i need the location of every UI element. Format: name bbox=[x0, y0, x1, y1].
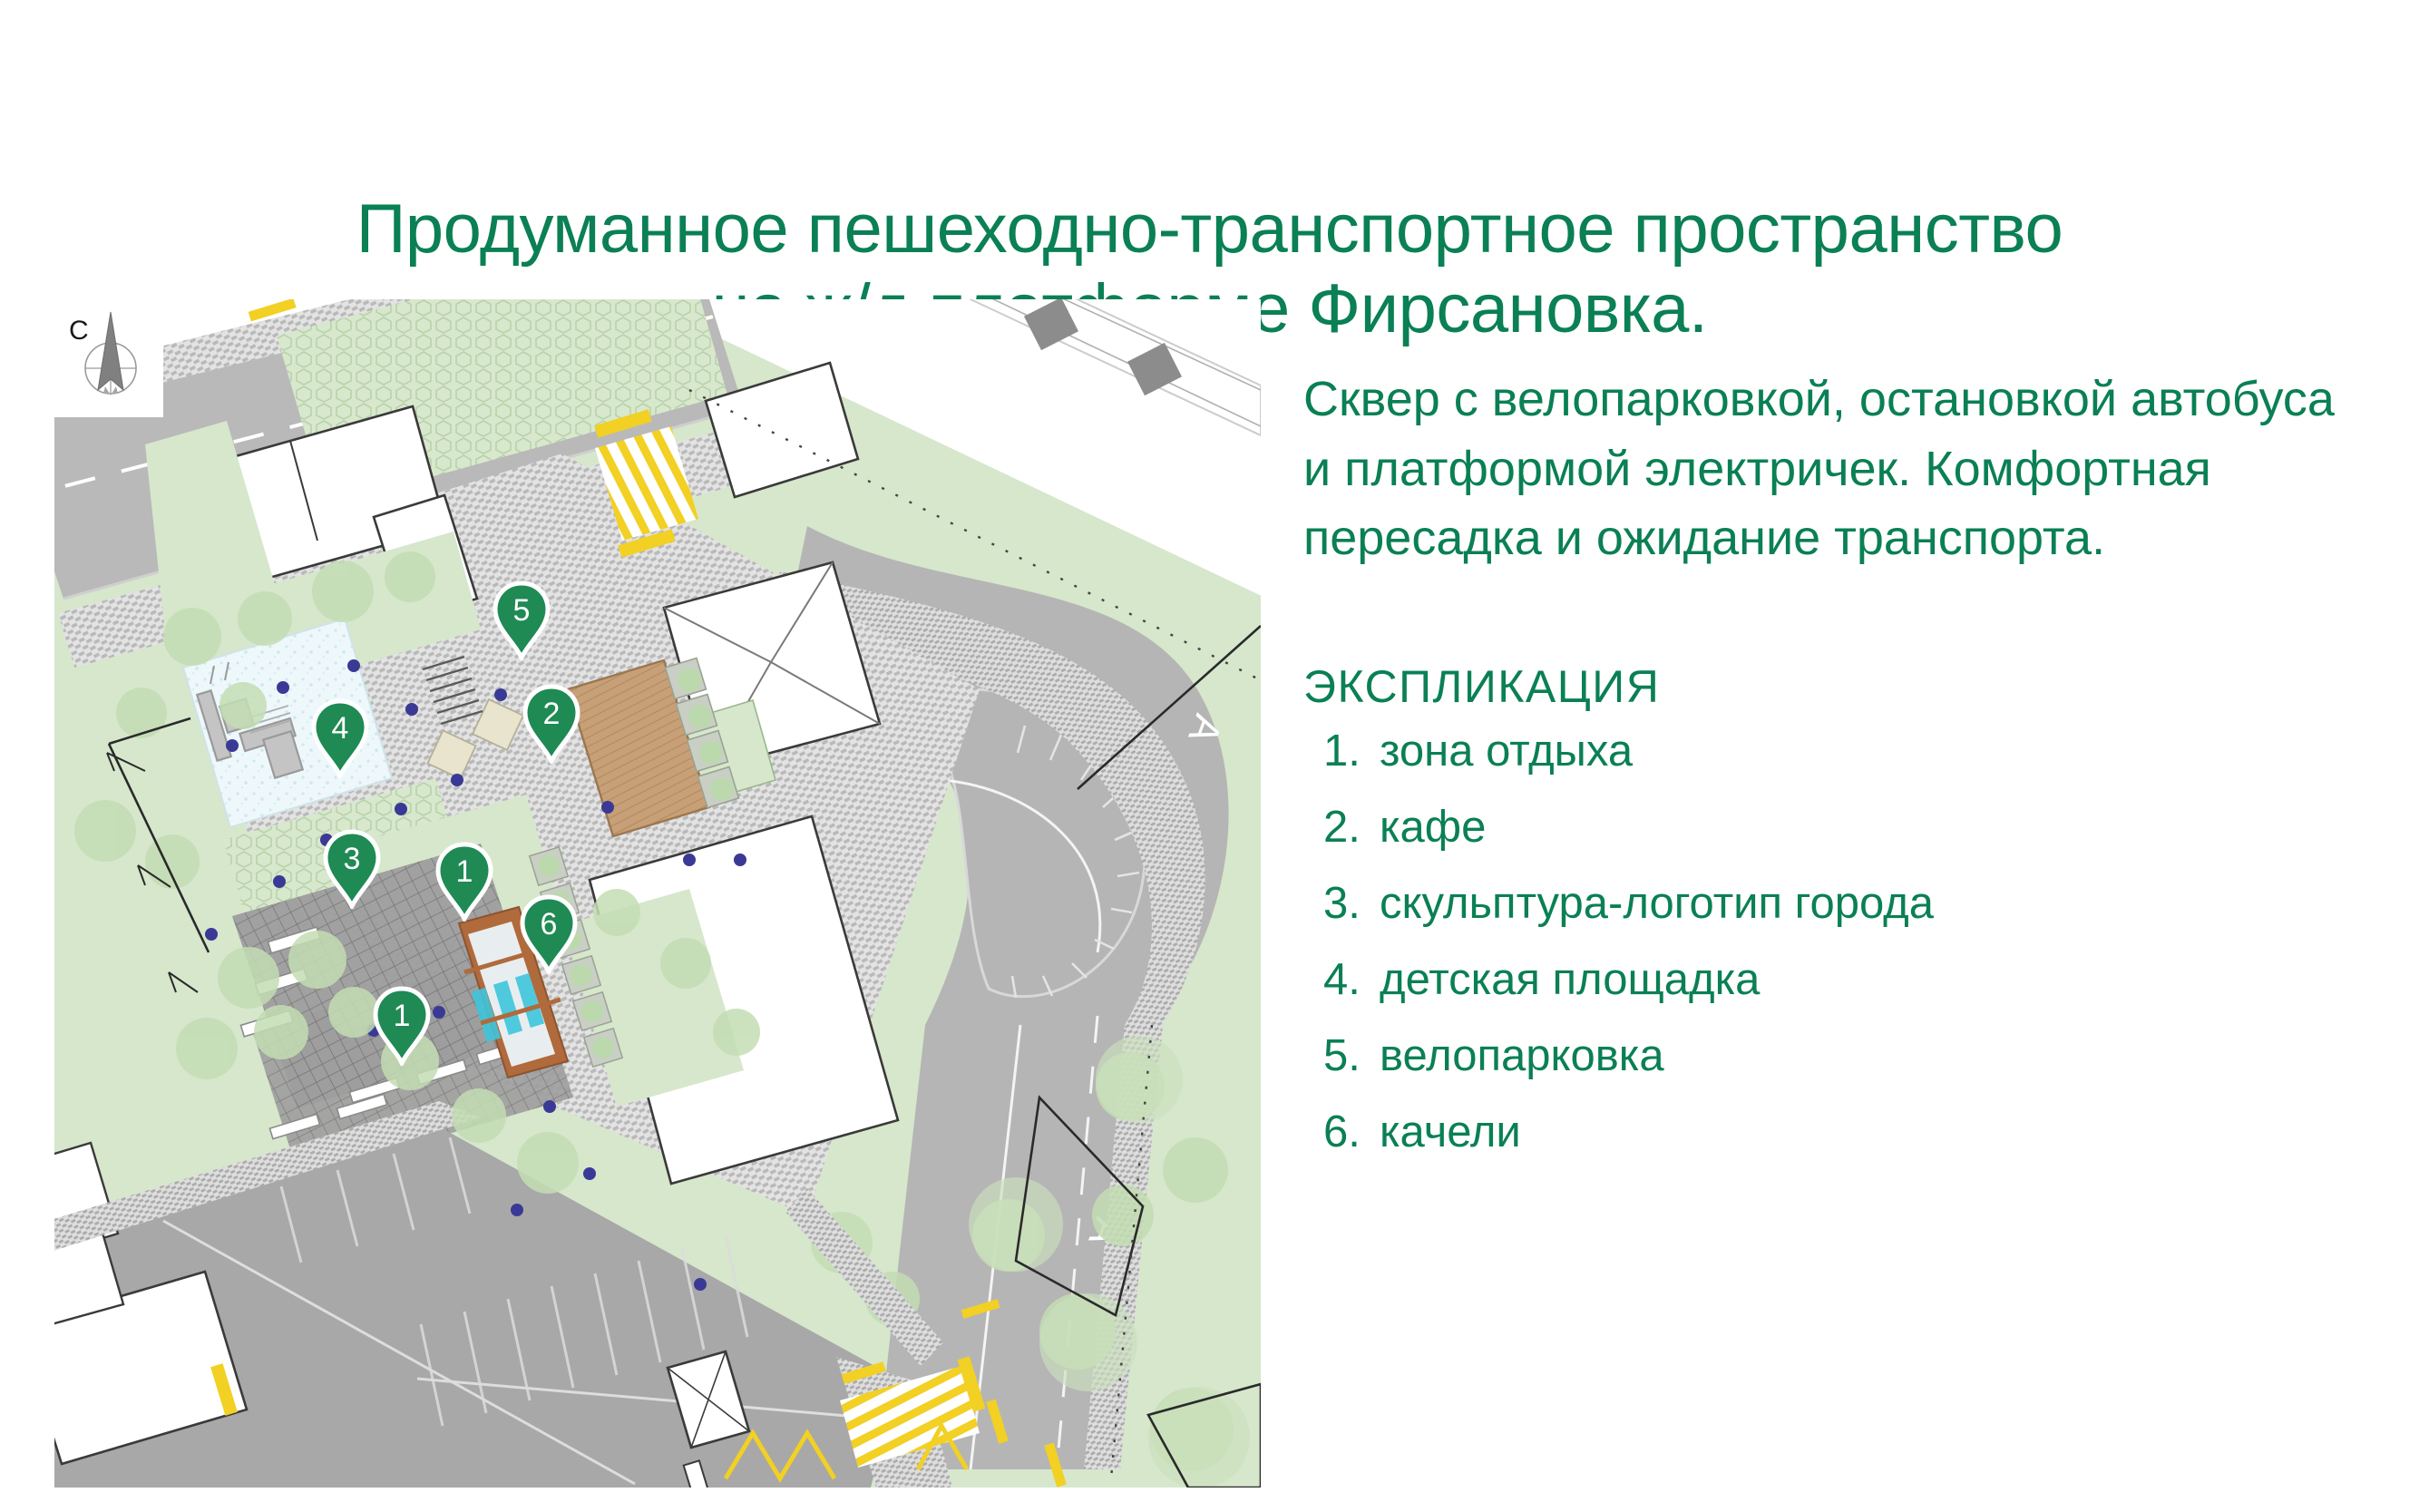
legend-item-4: 4. детская площадка bbox=[1323, 958, 2346, 1002]
pin-shape-icon bbox=[372, 986, 432, 1066]
legend-item-6-label: качели bbox=[1380, 1110, 1521, 1155]
pin-shape-icon bbox=[522, 684, 581, 764]
map-marker-2[interactable]: 2 bbox=[522, 684, 581, 764]
legend-item-2-number: 2. bbox=[1323, 805, 1367, 850]
text-column: Сквер с велопарковкой, остановкой автобу… bbox=[1303, 316, 2346, 1186]
legend-list: 1. зона отдыха 2. кафе 3. скульптура-лог… bbox=[1323, 729, 2346, 1155]
legend-item-5-label: велопарковка bbox=[1380, 1034, 1664, 1078]
legend-item-5: 5. велопарковка bbox=[1323, 1034, 2346, 1078]
map-marker-1-lower[interactable]: 1 bbox=[372, 986, 432, 1066]
page-title-line-1: Продуманное пешеходно-транспортное прост… bbox=[356, 190, 2063, 268]
site-plan-map: А А bbox=[54, 299, 1261, 1488]
map-marker-4[interactable]: 4 bbox=[310, 698, 370, 778]
map-marker-6[interactable]: 6 bbox=[519, 894, 579, 974]
map-marker-1-upper[interactable]: 1 bbox=[434, 842, 494, 922]
legend-item-6-number: 6. bbox=[1323, 1110, 1367, 1155]
legend-item-6: 6. качели bbox=[1323, 1110, 2346, 1155]
map-marker-3[interactable]: 3 bbox=[322, 829, 382, 909]
compass-rose: С bbox=[54, 299, 163, 417]
site-plan-drawing: А А bbox=[54, 299, 1261, 1488]
legend-item-1-label: зона отдыха bbox=[1380, 729, 1633, 774]
pin-shape-icon bbox=[519, 894, 579, 974]
slide-root: Продуманное пешеходно-транспортное прост… bbox=[0, 0, 2419, 1512]
map-marker-5[interactable]: 5 bbox=[492, 580, 551, 660]
pin-shape-icon bbox=[434, 842, 494, 922]
legend-item-4-label: детская площадка bbox=[1380, 958, 1760, 1002]
compass-north-label: С bbox=[69, 316, 89, 346]
legend-item-5-number: 5. bbox=[1323, 1034, 1367, 1078]
pin-shape-icon bbox=[310, 698, 370, 778]
legend-heading: ЭКСПЛИКАЦИЯ bbox=[1303, 660, 2346, 713]
intro-paragraph: Сквер с велопарковкой, остановкой автобу… bbox=[1303, 365, 2346, 573]
legend-item-4-number: 4. bbox=[1323, 958, 1367, 1002]
legend-item-3-label: скульптура-логотип города bbox=[1380, 882, 1934, 926]
legend-item-2-label: кафе bbox=[1380, 805, 1486, 850]
pin-shape-icon bbox=[322, 829, 382, 909]
legend-item-2: 2. кафе bbox=[1323, 805, 2346, 850]
pin-shape-icon bbox=[492, 580, 551, 660]
legend-item-1: 1. зона отдыха bbox=[1323, 729, 2346, 774]
legend-item-3: 3. скульптура-логотип города bbox=[1323, 882, 2346, 926]
legend-item-1-number: 1. bbox=[1323, 729, 1367, 774]
legend-item-3-number: 3. bbox=[1323, 882, 1367, 926]
